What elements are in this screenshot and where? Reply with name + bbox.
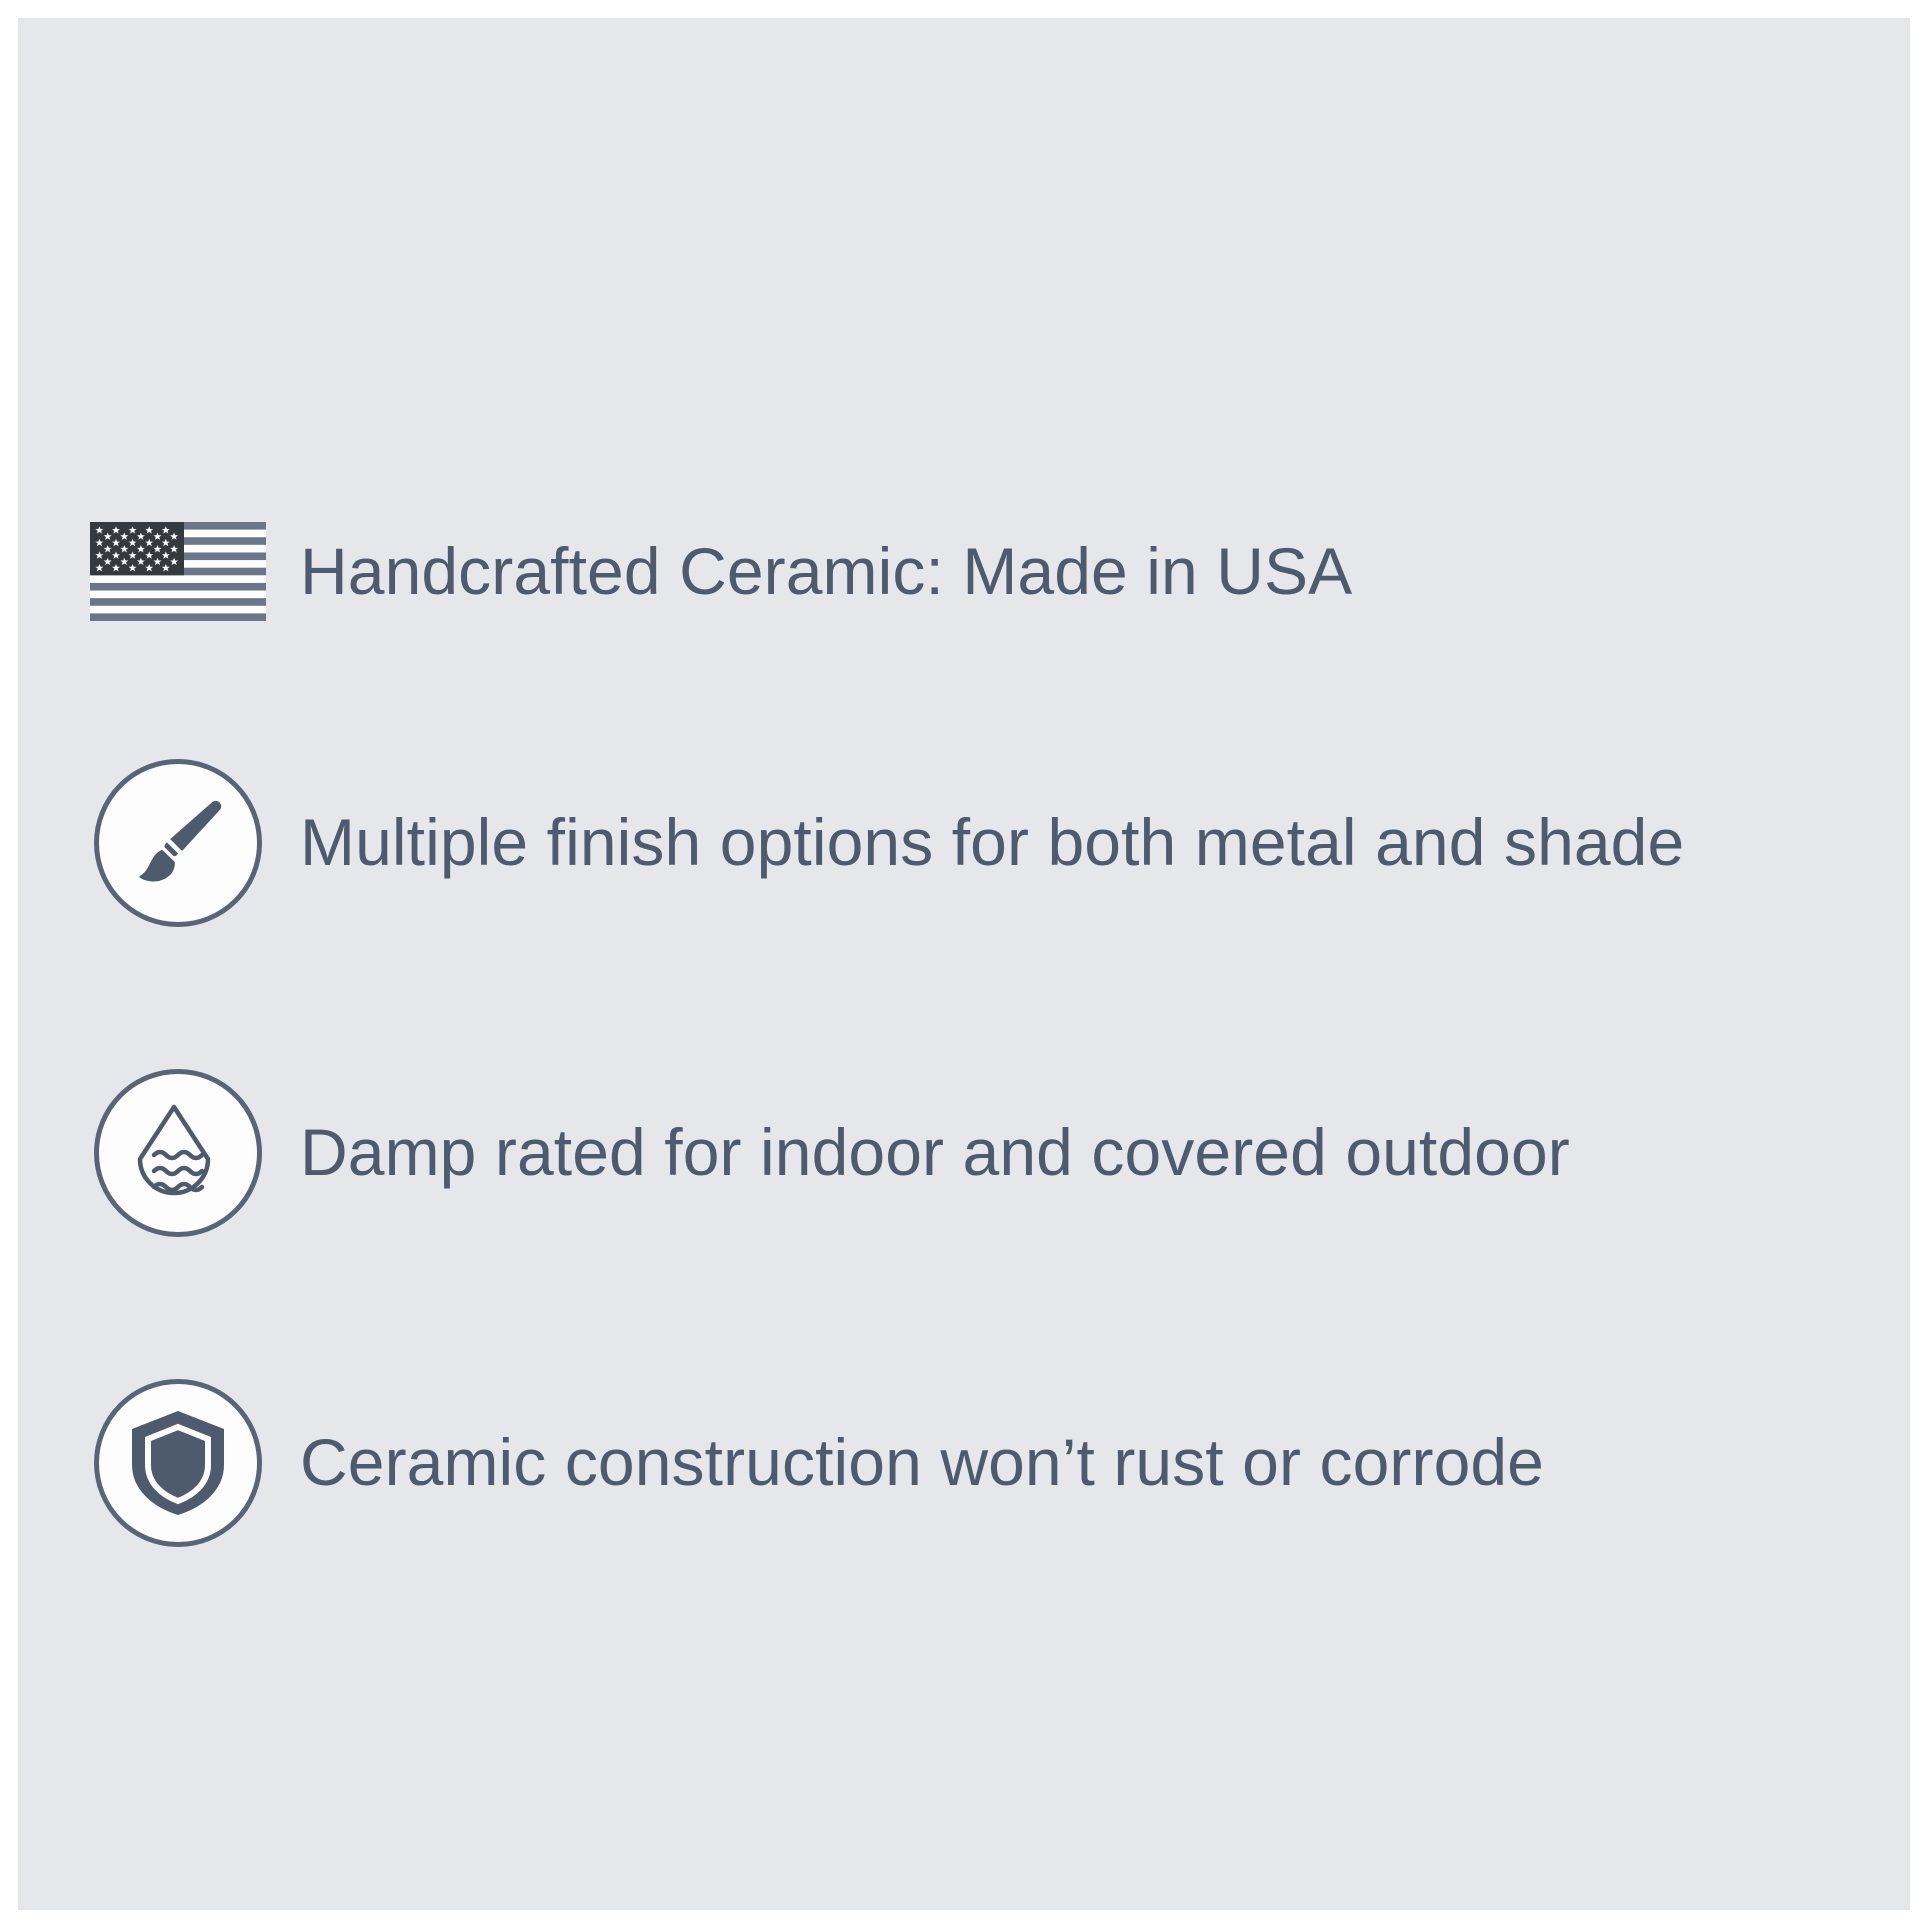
feature-icon-slot	[68, 484, 288, 659]
feature-icon-slot	[68, 1065, 288, 1240]
list-item: Handcrafted Ceramic: Made in USA	[68, 484, 1868, 659]
shield-icon	[128, 1409, 228, 1517]
icon-circle	[94, 1379, 262, 1547]
feature-icon-slot	[68, 1375, 288, 1550]
water-droplet-icon	[122, 1097, 234, 1209]
feature-label: Handcrafted Ceramic: Made in USA	[288, 533, 1868, 610]
feature-panel: Handcrafted Ceramic: Made in USA Multipl…	[18, 18, 1910, 1910]
icon-circle	[94, 1069, 262, 1237]
usa-flag-icon	[90, 522, 266, 621]
feature-list: Handcrafted Ceramic: Made in USA Multipl…	[18, 18, 1910, 1910]
feature-label: Ceramic construction won’t rust or corro…	[288, 1424, 1868, 1501]
icon-circle	[94, 759, 262, 927]
feature-label: Multiple finish options for both metal a…	[288, 804, 1868, 881]
paintbrush-icon	[126, 791, 230, 895]
feature-icon-slot	[68, 755, 288, 930]
list-item: Ceramic construction won’t rust or corro…	[68, 1375, 1868, 1550]
list-item: Damp rated for indoor and covered outdoo…	[68, 1065, 1868, 1240]
feature-label: Damp rated for indoor and covered outdoo…	[288, 1114, 1868, 1191]
list-item: Multiple finish options for both metal a…	[68, 755, 1868, 930]
